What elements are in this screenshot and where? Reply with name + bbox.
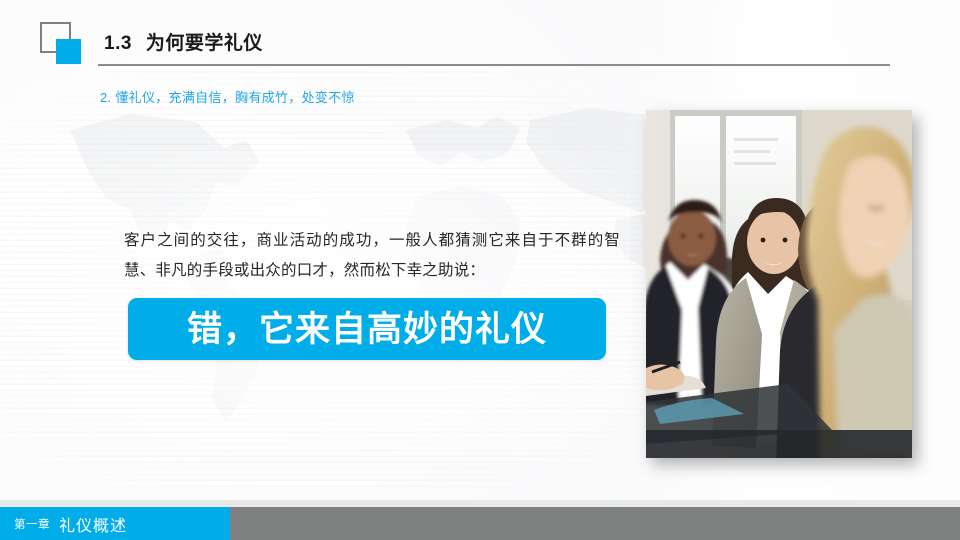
footer-chapter-block: 第一章 礼仪概述	[0, 507, 230, 540]
page-title: 1.3为何要学礼仪	[104, 28, 263, 55]
footer-gray-block	[230, 507, 960, 540]
header-divider	[98, 64, 890, 66]
square-solid-icon	[56, 39, 81, 64]
section-title-text: 为何要学礼仪	[146, 33, 263, 54]
subtitle-text: 2. 懂礼仪，充满自信，胸有成竹，处变不惊	[100, 87, 355, 106]
meeting-photo	[646, 110, 912, 458]
footer-chapter-title: 礼仪概述	[59, 512, 127, 536]
section-number: 1.3	[104, 33, 132, 54]
callout-text: 错，它来自高妙的礼仪	[187, 312, 547, 347]
footer-light-strip	[0, 500, 960, 507]
footer-bar: 第一章 礼仪概述	[0, 507, 960, 540]
highlight-callout-box: 错，它来自高妙的礼仪	[128, 298, 606, 360]
footer-chapter-number: 第一章	[14, 516, 50, 532]
section-mark-icon	[40, 22, 88, 64]
slide-canvas: 1.3为何要学礼仪 2. 懂礼仪，充满自信，胸有成竹，处变不惊 客户之间的交往，…	[0, 0, 960, 540]
body-paragraph: 客户之间的交往，商业活动的成功，一般人都猜测它来自于不群的智慧、非凡的手段或出众…	[124, 226, 620, 286]
